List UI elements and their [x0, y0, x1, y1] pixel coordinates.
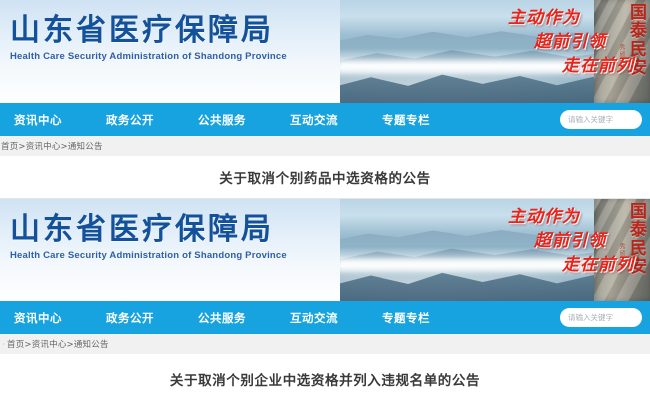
main-nav: 资讯中心 政务公开 公共服务 互动交流 专题专栏 [0, 103, 650, 136]
breadcrumb-text[interactable]: 首页>资讯中心>通知公告 [1, 140, 103, 152]
nav-item-interaction[interactable]: 互动交流 [290, 310, 338, 326]
article-header: 关于取消个别药品中选资格的公告 [0, 156, 650, 198]
search-input[interactable] [560, 308, 642, 327]
main-nav-2: 资讯中心 政务公开 公共服务 互动交流 专题专栏 [0, 301, 650, 334]
rock-char-1: 国 [630, 203, 647, 221]
nav-item-government-affairs[interactable]: 政务公开 [106, 112, 154, 128]
banner-slogan-2: 主动作为 超前引领 走在前列 [508, 205, 580, 277]
slogan-line-1: 主动作为 [508, 6, 580, 30]
site-logo-2[interactable]: 山东省医疗保障局 Health Care Security Administra… [10, 215, 287, 261]
article-header-2: 关于取消个别企业中选资格并列入违规名单的公告 [0, 354, 650, 404]
site-header-2: 秀颀天外 国 泰 民 安 主动作为 超前引领 走在前列 山东省医疗保障局 Hea… [0, 199, 650, 301]
page-title-2: 关于取消个别企业中选资格并列入违规名单的公告 [170, 369, 480, 389]
slogan-line-2: 超前引领 [508, 229, 606, 253]
rock-char-2: 泰 [630, 22, 647, 40]
breadcrumb: 首页>资讯中心>通知公告 [0, 136, 650, 156]
breadcrumb-text[interactable]: 首页>资讯中心>通知公告 [7, 338, 109, 350]
nav-item-government-affairs[interactable]: 政务公开 [106, 310, 154, 326]
rock-char-1: 国 [630, 4, 647, 22]
site-header: 秀颀天外 国 泰 民 安 主动作为 超前引领 走在前列 山东省医疗保障局 Hea… [0, 0, 650, 103]
search-input[interactable] [560, 110, 642, 129]
page-title: 关于取消个别药品中选资格的公告 [219, 167, 431, 187]
nav-item-special-column[interactable]: 专题专栏 [382, 310, 430, 326]
site-logo-english: Health Care Security Administration of S… [10, 51, 287, 62]
search-box [560, 109, 642, 129]
nav-item-list: 资讯中心 政务公开 公共服务 互动交流 专题专栏 [0, 112, 474, 128]
nav-item-interaction[interactable]: 互动交流 [290, 112, 338, 128]
nav-item-public-service[interactable]: 公共服务 [198, 310, 246, 326]
page-capture-bottom: 秀颀天外 国 泰 民 安 主动作为 超前引领 走在前列 山东省医疗保障局 Hea… [0, 199, 650, 404]
slogan-line-3: 走在前列 [508, 253, 634, 277]
nav-item-list-2: 资讯中心 政务公开 公共服务 互动交流 专题专栏 [0, 310, 474, 326]
slogan-line-3: 走在前列 [508, 54, 634, 78]
site-logo-chinese: 山东省医疗保障局 [10, 215, 287, 245]
nav-item-news-center[interactable]: 资讯中心 [14, 310, 62, 326]
nav-item-public-service[interactable]: 公共服务 [198, 112, 246, 128]
site-logo[interactable]: 山东省医疗保障局 Health Care Security Administra… [10, 16, 287, 62]
page-capture-top: 秀颀天外 国 泰 民 安 主动作为 超前引领 走在前列 山东省医疗保障局 Hea… [0, 0, 650, 199]
search-box-2 [560, 307, 642, 327]
rock-char-2: 泰 [630, 221, 647, 239]
breadcrumb-location-icon: · [0, 341, 7, 348]
banner-slogan: 主动作为 超前引领 走在前列 [508, 6, 580, 78]
site-logo-english: Health Care Security Administration of S… [10, 250, 287, 261]
slogan-line-1: 主动作为 [508, 205, 580, 229]
slogan-line-2: 超前引领 [508, 30, 606, 54]
nav-item-special-column[interactable]: 专题专栏 [382, 112, 430, 128]
breadcrumb-2: · 首页>资讯中心>通知公告 [0, 334, 650, 354]
nav-item-news-center[interactable]: 资讯中心 [14, 112, 62, 128]
site-logo-chinese: 山东省医疗保障局 [10, 16, 287, 46]
